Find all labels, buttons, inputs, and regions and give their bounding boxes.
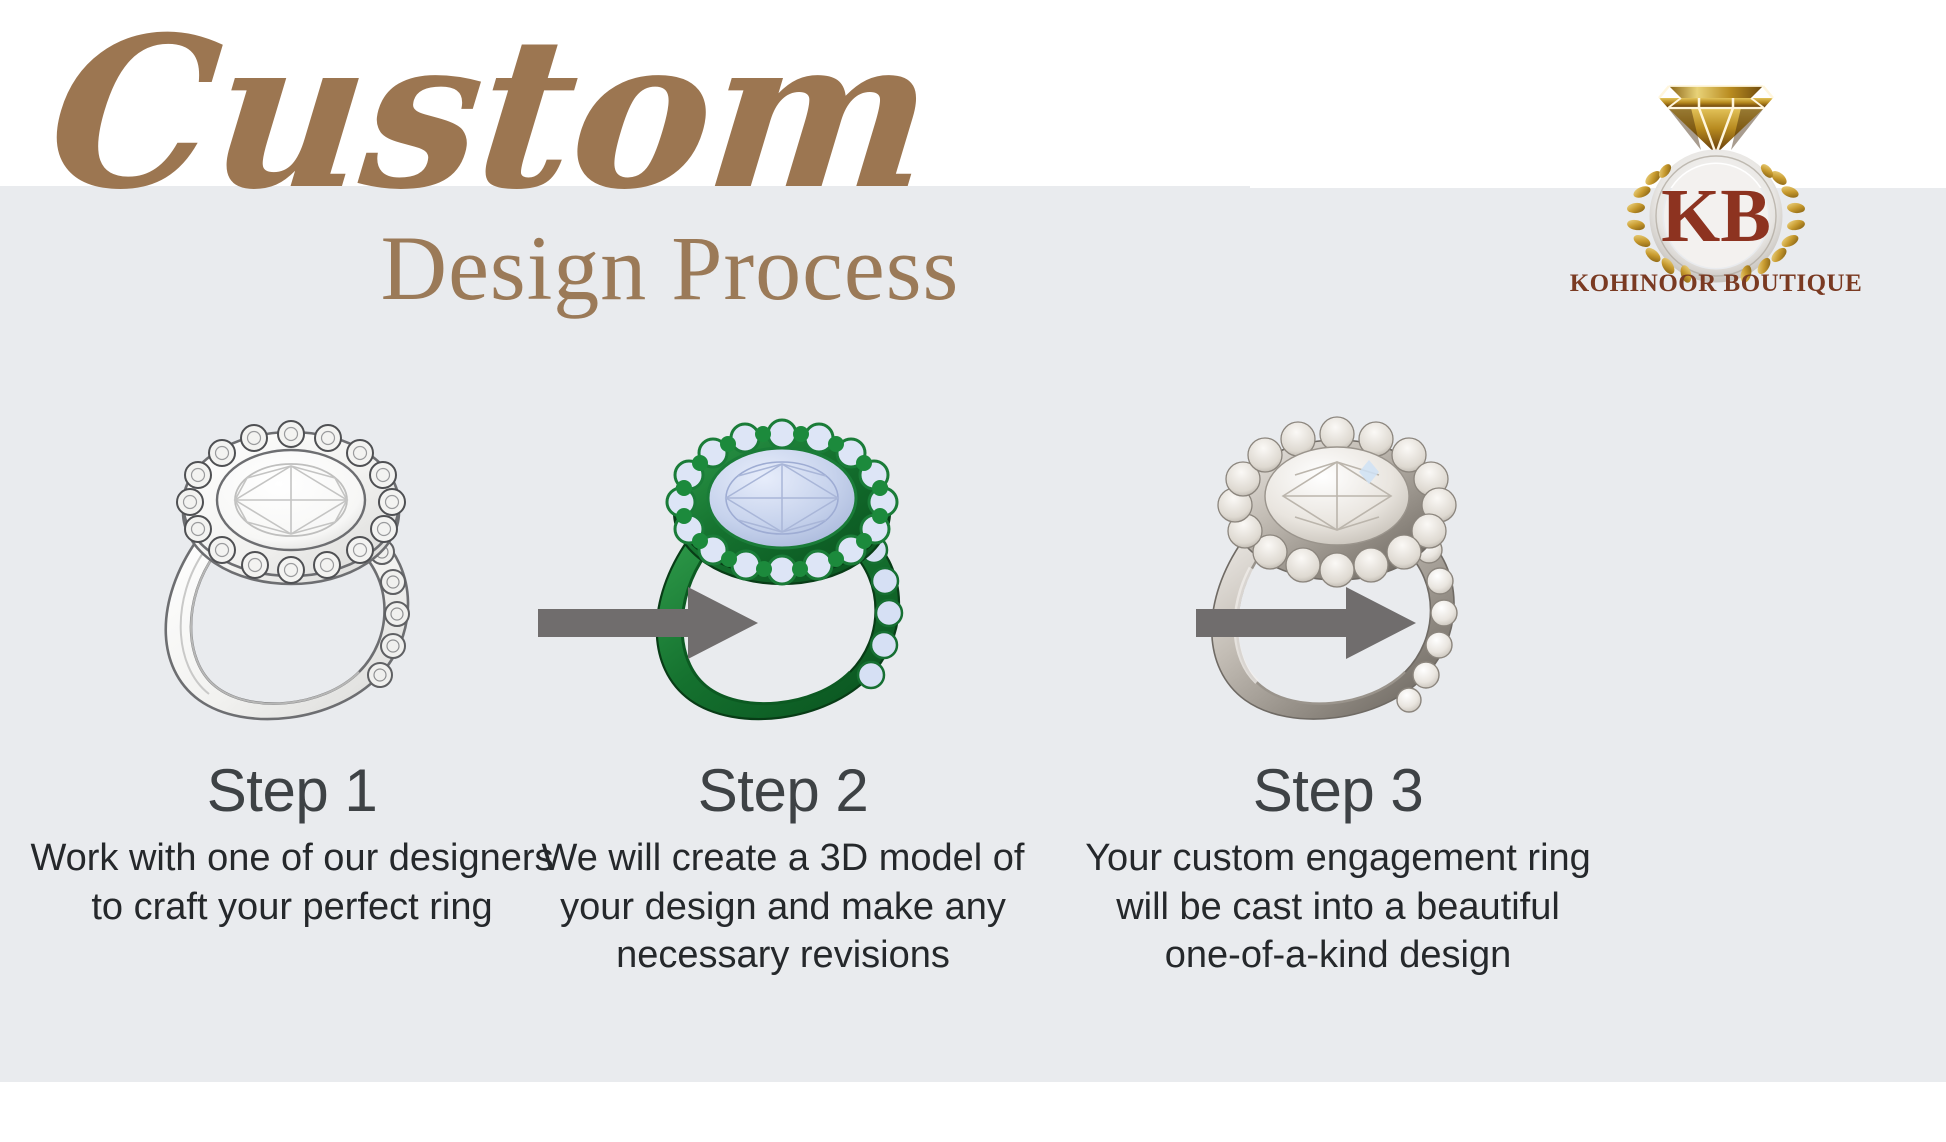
step-description-line: Your custom engagement ring: [1052, 834, 1624, 883]
step-description: We will create a 3D model of your design…: [473, 834, 1093, 980]
step-description-line: will be cast into a beautiful: [1052, 883, 1624, 932]
finished-white-gold-ring: [1028, 400, 1648, 740]
step-description-line: one-of-a-kind design: [1052, 931, 1624, 980]
green-3d-model-ring: [473, 400, 1093, 740]
step-description-line: We will create a 3D model of: [497, 834, 1069, 883]
step-title: Step 2: [473, 758, 1093, 824]
custom-design-process-graphic: Custom Design Process: [0, 0, 1946, 1142]
step-2: Step 2 We will create a 3D model of your…: [473, 400, 1093, 980]
steps-row: Step 1 Work with one of our designers to…: [0, 0, 1946, 1142]
arrow-right-icon: [1196, 583, 1416, 663]
step-description: Your custom engagement ring will be cast…: [1028, 834, 1648, 980]
step-description-line: your design and make any: [497, 883, 1069, 932]
arrow-right-icon: [538, 583, 758, 663]
step-description-line: necessary revisions: [497, 931, 1069, 980]
step-title: Step 3: [1028, 758, 1648, 824]
step-3: Step 3 Your custom engagement ring will …: [1028, 400, 1648, 980]
